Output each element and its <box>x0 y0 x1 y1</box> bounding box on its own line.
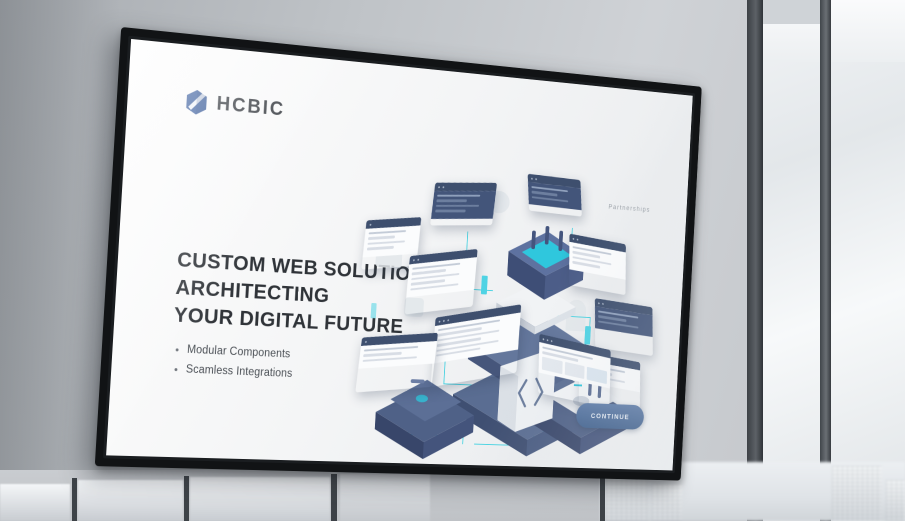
card-left-list[interactable] <box>405 249 478 315</box>
lower-window-frame <box>184 476 189 521</box>
skyline-tower <box>886 480 905 521</box>
lower-window-frame <box>72 478 77 521</box>
lower-window-pane <box>0 484 70 521</box>
skyline-tower <box>652 484 682 521</box>
presentation-slide: HCBIC CUSTOM WEB SOLUTIONS: ARCHITECTING… <box>106 39 693 471</box>
accent-bar <box>481 276 488 295</box>
skyline-tower <box>832 466 882 521</box>
feature-bullet-list: Modular Components Scamless Integrations <box>174 340 294 384</box>
accent-bar <box>371 303 377 319</box>
card-body <box>431 191 496 219</box>
card-right-tasks[interactable] <box>595 298 653 356</box>
hcbic-hexagon-logo-mark <box>184 88 209 117</box>
brand-logo-text: HCBIC <box>216 93 286 122</box>
lower-window-pane <box>340 474 430 521</box>
skyline-tower <box>606 476 648 521</box>
window-mullion-right <box>820 0 831 521</box>
card-body <box>363 225 421 256</box>
lower-window-pane <box>78 480 183 521</box>
card-body <box>358 341 437 369</box>
lower-window-pane <box>190 477 330 521</box>
card-header <box>434 183 497 192</box>
platform-bottom-left <box>367 377 481 470</box>
accent-bar <box>584 326 591 345</box>
continue-button[interactable]: CONTINUE <box>576 403 645 430</box>
display-screen[interactable]: HCBIC CUSTOM WEB SOLUTIONS: ARCHITECTING… <box>106 39 693 471</box>
window-header-panel <box>763 0 821 24</box>
wall-mounted-display: HCBIC CUSTOM WEB SOLUTIONS: ARCHITECTING… <box>108 26 788 468</box>
lower-window-frame <box>331 474 337 521</box>
display-bezel: HCBIC CUSTOM WEB SOLUTIONS: ARCHITECTING… <box>95 27 702 481</box>
card-bottom-left[interactable] <box>355 333 438 393</box>
list-item: Scamless Integrations <box>174 360 293 384</box>
card-body <box>406 257 477 297</box>
screenshot-stage: HCBIC CUSTOM WEB SOLUTIONS: ARCHITECTING… <box>0 0 905 521</box>
card-right-metrics[interactable] <box>569 234 626 296</box>
card-top-right[interactable] <box>528 174 582 217</box>
card-top-left[interactable] <box>430 183 497 226</box>
brand-logo[interactable]: HCBIC <box>184 88 286 123</box>
